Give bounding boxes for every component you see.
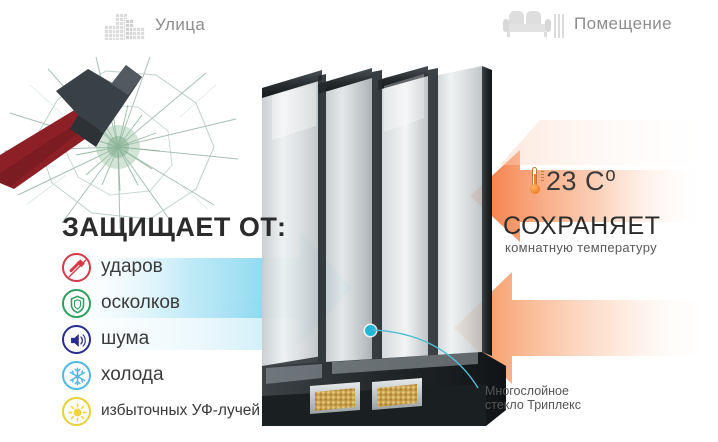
- list-item-label: шума: [101, 328, 149, 350]
- list-item-cold[interactable]: холода: [62, 358, 322, 392]
- infographic-canvas: Улица Помещение: [0, 0, 718, 442]
- blinds-icon: [554, 14, 565, 38]
- list-item-uv[interactable]: избыточных УФ-лучей: [62, 394, 322, 428]
- keeps-subtitle: комнатную температуру: [505, 240, 657, 255]
- header-street: Улица: [104, 10, 205, 40]
- temperature-readout: 23 C⁰: [528, 166, 616, 197]
- list-item-label: ударов: [101, 256, 163, 278]
- triplex-callout: Многослойное стекло Триплекс: [485, 384, 581, 412]
- sofa-icon: [503, 10, 551, 38]
- snowflake-icon: [62, 361, 91, 390]
- list-item-label: осколков: [101, 292, 180, 314]
- hammer-icon: [62, 253, 91, 282]
- page-title-keeps: СОХРАНЯЕТ: [503, 212, 661, 241]
- heat-glow-band: [500, 120, 718, 165]
- hammer-breaking-glass-graphic: [0, 55, 250, 230]
- list-item-label: холода: [101, 364, 164, 386]
- list-item-noise[interactable]: шума: [62, 322, 322, 356]
- protection-feature-list: ударов осколков шума: [62, 250, 322, 430]
- list-item-shards[interactable]: осколков: [62, 286, 322, 320]
- list-item-impacts[interactable]: ударов: [62, 250, 322, 284]
- callout-line-2: стекло Триплекс: [485, 398, 581, 412]
- building-icon: [104, 10, 146, 40]
- header-room-label: Помещение: [574, 14, 672, 34]
- shield-icon: [62, 289, 91, 318]
- callout-leader-line: [360, 318, 500, 398]
- list-item-label: избыточных УФ-лучей: [101, 402, 260, 420]
- page-title-protects: ЗАЩИЩАЕТ ОТ:: [62, 212, 286, 243]
- sun-icon: [62, 397, 91, 426]
- speaker-icon: [62, 325, 91, 354]
- callout-line-1: Многослойное: [485, 384, 581, 398]
- thermometer-icon: [528, 167, 541, 197]
- header-street-label: Улица: [155, 15, 205, 35]
- temperature-value: 23 C⁰: [546, 166, 616, 197]
- header-room: Помещение: [503, 10, 672, 38]
